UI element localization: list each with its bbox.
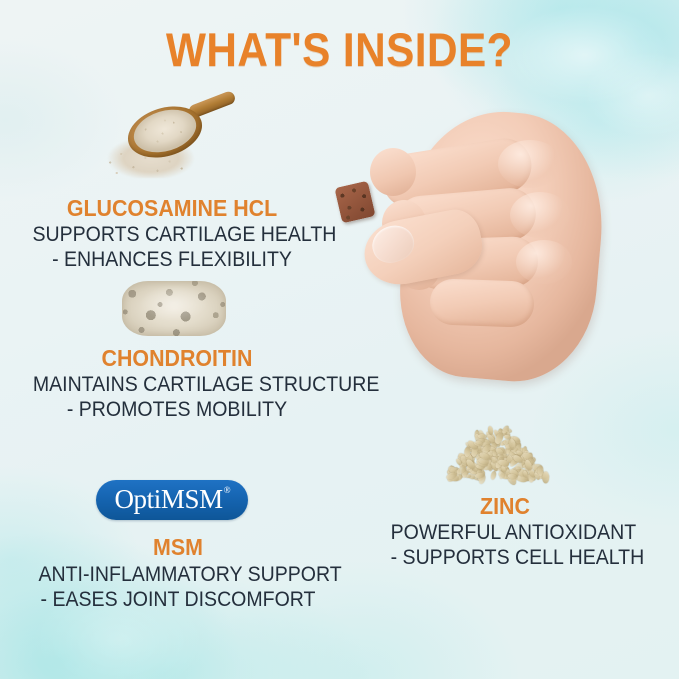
registered-mark-icon: ® xyxy=(224,485,231,495)
hand-holding-tablet-image xyxy=(330,88,670,443)
ingredient-subbenefit-zinc: - SUPPORTS CELL HEALTH xyxy=(391,545,620,570)
knuckle-highlight-3 xyxy=(516,240,572,284)
tablet-pill xyxy=(334,181,375,224)
knuckle-highlight-2 xyxy=(510,192,570,238)
ingredient-block-glucosamine: GLUCOSAMINE HCL SUPPORTS CARTILAGE HEALT… xyxy=(22,194,322,272)
seed-particle xyxy=(542,471,549,483)
optimsm-logo: OptiMSM® xyxy=(96,480,248,520)
knuckle-highlight-1 xyxy=(498,140,562,188)
chondroitin-bone-image xyxy=(122,281,226,336)
ingredient-block-zinc: ZINC POWERFUL ANTIOXIDANT - SUPPORTS CEL… xyxy=(382,492,628,570)
index-fingertip-shape xyxy=(370,148,416,196)
ingredient-block-chondroitin: CHONDROITIN MAINTAINS CARTILAGE STRUCTUR… xyxy=(22,344,332,422)
ingredient-subbenefit-msm: - EASES JOINT DISCOMFORT xyxy=(39,587,318,612)
little-finger-shape xyxy=(429,278,535,328)
glucosamine-powder-scoop-image xyxy=(97,92,237,187)
ingredient-name-msm: MSM xyxy=(39,533,318,562)
seed-particle xyxy=(489,470,496,480)
ingredient-block-msm: MSM ANTI-INFLAMMATORY SUPPORT - EASES JO… xyxy=(28,533,328,612)
ingredient-benefit-msm: ANTI-INFLAMMATORY SUPPORT xyxy=(39,562,318,587)
ingredient-subbenefit-glucosamine: - ENHANCES FLEXIBILITY xyxy=(33,247,312,272)
ingredient-name-zinc: ZINC xyxy=(391,492,620,520)
ingredient-benefit-glucosamine: SUPPORTS CARTILAGE HEALTH xyxy=(33,222,312,247)
page-title: WHAT'S INSIDE? xyxy=(34,22,645,77)
ingredient-subbenefit-chondroitin: - PROMOTES MOBILITY xyxy=(33,397,321,422)
ingredient-name-glucosamine: GLUCOSAMINE HCL xyxy=(33,194,312,222)
ingredient-benefit-chondroitin: MAINTAINS CARTILAGE STRUCTURE xyxy=(33,372,321,397)
ingredient-benefit-zinc: POWERFUL ANTIOXIDANT xyxy=(391,520,620,545)
ingredient-name-chondroitin: CHONDROITIN xyxy=(33,344,321,372)
optimsm-logo-text: OptiMSM xyxy=(114,486,222,513)
infographic-canvas: WHAT'S INSIDE? GLUCOSAMINE HCL SUPPORTS … xyxy=(0,0,679,679)
